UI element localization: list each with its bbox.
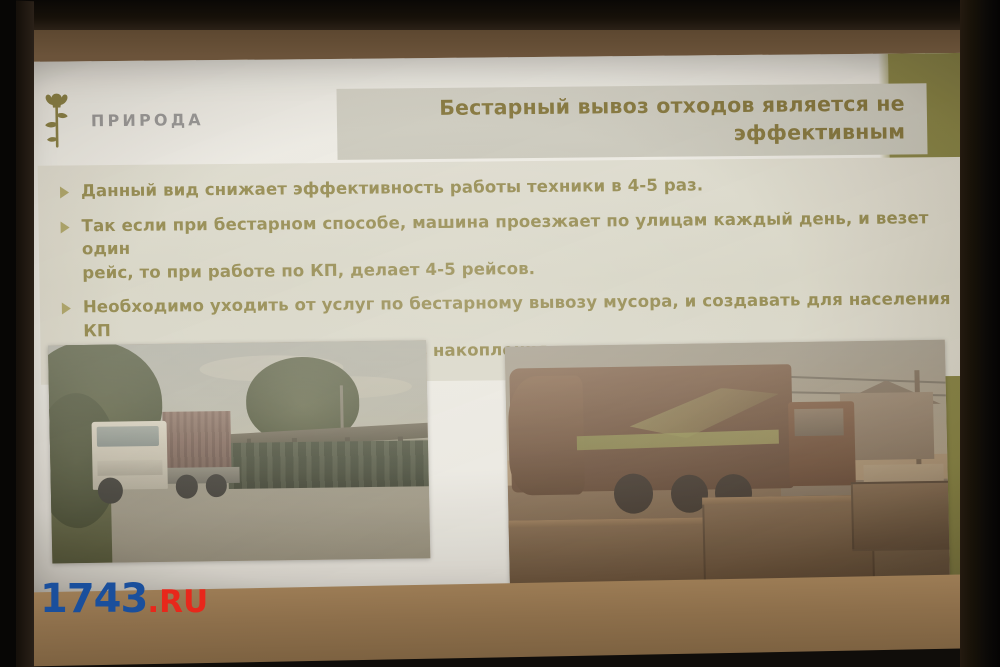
- brand-logo-text: ПРИРОДА: [91, 110, 204, 130]
- triangle-right-icon: [62, 303, 71, 315]
- site-watermark: 1743.RU: [40, 579, 208, 619]
- bullet-line: Данный вид снижает эффективность работы …: [81, 173, 704, 203]
- photo-left: [48, 340, 430, 563]
- triangle-right-icon: [60, 186, 69, 198]
- photo-of-projected-slide: ПРИРОДА Бестарный вывоз отходов является…: [0, 0, 1000, 667]
- photo-right-scene: [505, 340, 950, 595]
- brand-logo: ПРИРОДА: [38, 88, 204, 152]
- bullet-text: Данный вид снижает эффективность работы …: [81, 173, 704, 203]
- watermark-dot: .: [147, 584, 159, 620]
- right-dark-edge: [960, 0, 1000, 667]
- photo-right: [505, 340, 950, 595]
- photo-washout: [48, 340, 430, 563]
- bullet-item: Так если при бестарном способе, машина п…: [48, 206, 953, 285]
- photo-washout: [505, 340, 950, 595]
- projection-screen: ПРИРОДА Бестарный вывоз отходов является…: [14, 53, 989, 607]
- triangle-right-icon: [61, 221, 70, 233]
- photo-left-scene: [48, 340, 430, 563]
- ceiling-shadow: [0, 0, 1000, 30]
- watermark-tld: RU: [159, 584, 208, 620]
- bullet-line: Необходимо уходить от услуг по бестарном…: [83, 287, 955, 342]
- watermark-number: 1743: [40, 576, 147, 622]
- bullet-item: Данный вид снижает эффективность работы …: [48, 171, 952, 203]
- bullet-text: Так если при бестарном способе, машина п…: [81, 206, 953, 285]
- slide-title-line-2: эффективным: [359, 118, 905, 151]
- slide-title-band: Бестарный вывоз отходов является не эффе…: [336, 83, 927, 160]
- tulip-flower-icon: [38, 89, 75, 151]
- slide-canvas: ПРИРОДА Бестарный вывоз отходов является…: [14, 53, 989, 607]
- bullet-line: Так если при бестарном способе, машина п…: [81, 206, 953, 261]
- left-frame: [0, 0, 16, 667]
